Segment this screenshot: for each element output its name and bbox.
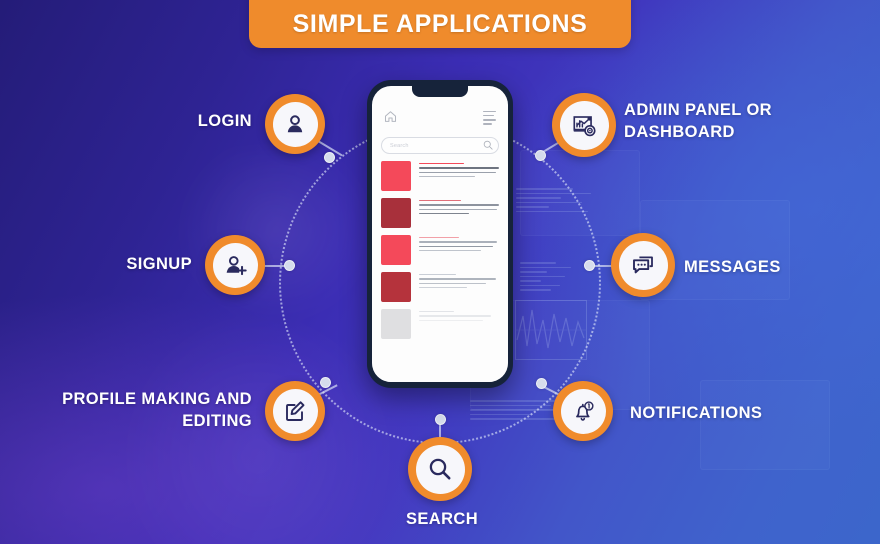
search-icon[interactable] [483, 137, 493, 155]
list-item[interactable] [381, 235, 499, 265]
edit-pencil-icon [283, 399, 307, 423]
connector-node-search [435, 414, 446, 425]
feature-badge-login[interactable] [265, 94, 325, 154]
badge-inner-circle [561, 389, 606, 434]
feature-label-notifications: NOTIFICATIONS [630, 402, 830, 424]
connector-node-signup [284, 260, 295, 271]
dashboard-chart-icon [571, 112, 598, 139]
phone-screen: Search [372, 86, 508, 382]
badge-inner-circle [416, 445, 465, 494]
feature-badge-admin[interactable] [552, 93, 616, 157]
phone-content-list [372, 161, 508, 339]
page-title: SIMPLE APPLICATIONS [293, 10, 588, 39]
list-item-text-lines [419, 309, 499, 339]
list-item[interactable] [381, 272, 499, 302]
user-plus-icon [223, 253, 248, 278]
home-icon[interactable] [384, 110, 397, 128]
feature-badge-search[interactable] [408, 437, 472, 501]
list-item[interactable] [381, 198, 499, 228]
hamburger-menu-icon[interactable] [483, 111, 496, 128]
connector-node-messages [584, 260, 595, 271]
list-item-text-lines [419, 235, 499, 265]
list-fade-mask [372, 356, 508, 382]
feature-label-search: SEARCH [397, 508, 487, 530]
feature-label-profile: PROFILE MAKING AND EDITING [12, 388, 252, 433]
list-item[interactable] [381, 161, 499, 191]
phone-search-placeholder: Search [390, 143, 409, 149]
feature-label-login: LOGIN [130, 110, 252, 132]
list-item[interactable] [381, 309, 499, 339]
badge-inner-circle [560, 101, 609, 150]
feature-badge-messages[interactable] [611, 233, 675, 297]
phone-notch [412, 86, 468, 97]
badge-inner-circle [619, 241, 668, 290]
chat-bubbles-icon [630, 252, 656, 278]
bell-icon [571, 399, 596, 424]
feature-label-messages: MESSAGES [684, 256, 864, 278]
feature-badge-notifications[interactable] [553, 381, 613, 441]
phone-search-input[interactable]: Search [381, 137, 499, 154]
badge-inner-circle [273, 389, 318, 434]
connector-node-profile [320, 377, 331, 388]
list-item-text-lines [419, 161, 499, 191]
list-item-thumbnail [381, 309, 411, 339]
connector-node-notifications [536, 378, 547, 389]
feature-label-signup: SIGNUP [60, 253, 192, 275]
list-item-thumbnail [381, 161, 411, 191]
list-item-text-lines [419, 198, 499, 228]
search-icon [427, 456, 453, 482]
feature-label-admin: ADMIN PANEL OR DASHBOARD [624, 99, 854, 144]
background-monitor [700, 380, 830, 470]
phone-mockup: Search [367, 80, 513, 388]
list-item-text-lines [419, 272, 499, 302]
badge-inner-circle [273, 102, 318, 147]
user-icon [283, 112, 307, 136]
infographic-canvas: SIMPLE APPLICATIONS [0, 0, 880, 544]
list-item-thumbnail [381, 198, 411, 228]
feature-badge-profile[interactable] [265, 381, 325, 441]
list-item-thumbnail [381, 235, 411, 265]
badge-inner-circle [213, 243, 258, 288]
feature-badge-signup[interactable] [205, 235, 265, 295]
list-item-thumbnail [381, 272, 411, 302]
connector-node-admin [535, 150, 546, 161]
title-banner: SIMPLE APPLICATIONS [249, 0, 631, 48]
connector-node-login [324, 152, 335, 163]
